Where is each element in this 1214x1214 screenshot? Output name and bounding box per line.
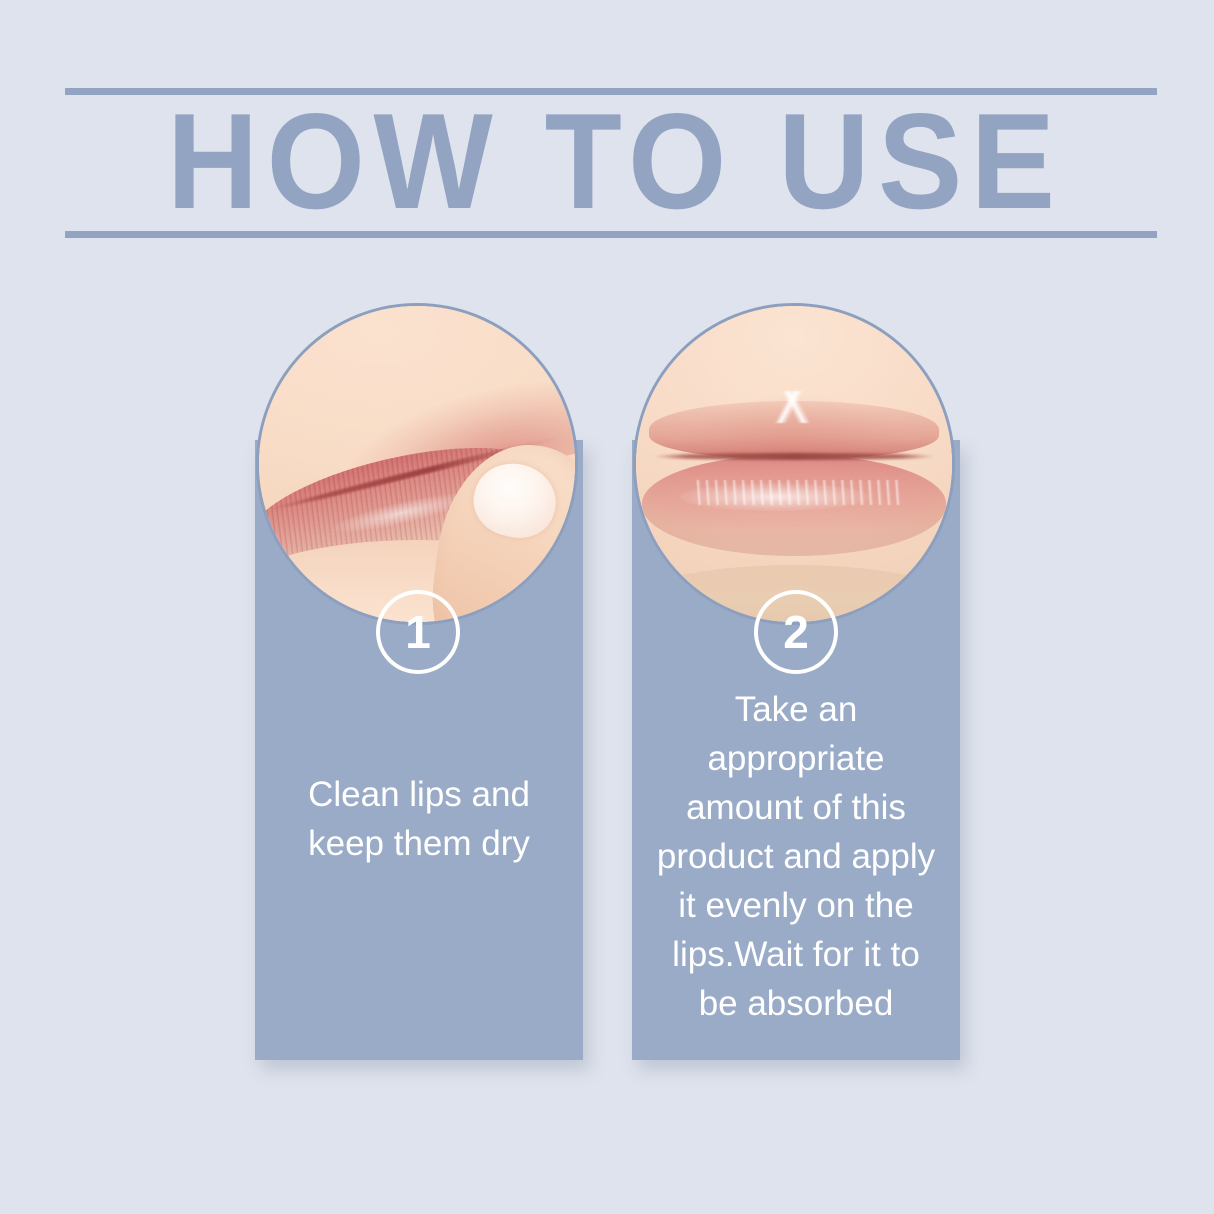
glossy-lips-photo-icon bbox=[636, 306, 952, 622]
steps-container: Clean lips and keep them dry 1 Take an a… bbox=[0, 0, 1214, 1214]
step-card-1: Clean lips and keep them dry bbox=[255, 440, 583, 1060]
step-caption-2: Take an appropriate amount of this produ… bbox=[640, 685, 952, 1028]
step-card-2: Take an appropriate amount of this produ… bbox=[632, 440, 960, 1060]
step-caption-1: Clean lips and keep them dry bbox=[263, 770, 575, 868]
step-photo-1 bbox=[256, 303, 578, 625]
lips-finger-photo-icon bbox=[259, 306, 575, 622]
step-photo-2 bbox=[633, 303, 955, 625]
step-number-badge-1: 1 bbox=[376, 590, 460, 674]
step-number-badge-2: 2 bbox=[754, 590, 838, 674]
